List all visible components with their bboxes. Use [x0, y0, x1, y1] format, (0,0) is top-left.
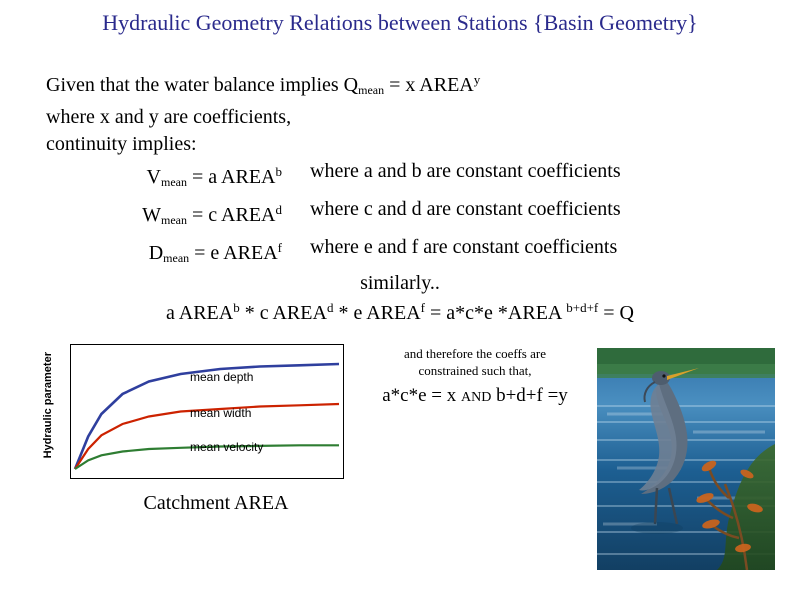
note-result-b: b+d+f =y	[491, 385, 567, 406]
note-line-1: and therefore the coeffs are	[355, 345, 595, 362]
equation-lhs-depth: Dmean = e AREAf	[46, 234, 282, 272]
intro-line-3: continuity implies:	[46, 131, 786, 158]
equation-expr-depth: = e AREA	[189, 243, 278, 265]
hydraulic-geometry-chart: Hydraulic parameter mean depth mean widt…	[48, 340, 348, 520]
note-line-2: constrained such that,	[355, 362, 595, 379]
slide-body: Given that the water balance implies Qme…	[46, 66, 786, 273]
combined-eq-p3: c AREA	[255, 302, 327, 324]
heron-photo-svg	[597, 348, 775, 570]
note-result-and: AND	[461, 390, 491, 405]
intro-line-1: Given that the water balance implies Qme…	[46, 66, 786, 104]
equation-note-depth: where e and f are constant coefficients	[282, 234, 617, 272]
combined-eq-p4: *	[333, 302, 348, 324]
equation-lhs-velocity: Vmean = a AREAb	[46, 158, 282, 196]
equation-var-depth: D	[149, 243, 163, 265]
equation-var-width: W	[142, 204, 161, 226]
chart-x-axis-label: Catchment AREA	[76, 492, 356, 515]
similarly-text: similarly..	[0, 272, 800, 295]
combined-eq-s4: b+d+f	[566, 300, 598, 315]
equation-note-width: where c and d are constant coefficients	[282, 196, 621, 234]
equation-row-velocity: Vmean = a AREAb where a and b are consta…	[46, 158, 786, 196]
equation-expr-velocity: = a AREA	[187, 166, 276, 188]
intro-line-1-sup: y	[474, 72, 481, 87]
coefficient-note: and therefore the coeffs are constrained…	[355, 345, 595, 406]
equation-lhs-width: Wmean = c AREAd	[46, 196, 282, 234]
equation-sub-width: mean	[161, 213, 187, 227]
chart-label-mean-velocity: mean velocity	[190, 440, 263, 454]
intro-line-1-sub: mean	[358, 83, 384, 97]
chart-label-mean-width: mean width	[190, 406, 251, 420]
heron-photo	[597, 348, 775, 570]
equation-note-velocity: where a and b are constant coefficients	[282, 158, 621, 196]
combined-eq-p6: = a*c*e *AREA	[425, 302, 566, 324]
combined-eq-p2: *	[240, 302, 255, 324]
combined-eq-p1: a AREA	[166, 302, 233, 324]
combined-equation: a AREAb * c AREAd * e AREAf = a*c*e *ARE…	[0, 300, 800, 325]
intro-line-2: where x and y are coefficients,	[46, 104, 786, 131]
slide-canvas: Hydraulic Geometry Relations between Sta…	[0, 0, 800, 600]
equation-sub-depth: mean	[163, 252, 189, 266]
chart-label-mean-depth: mean depth	[190, 370, 253, 384]
equation-var-velocity: V	[147, 166, 161, 188]
intro-line-1-text-b: = x AREA	[384, 74, 474, 96]
equation-sub-velocity: mean	[161, 175, 187, 189]
equation-expr-width: = c AREA	[187, 204, 276, 226]
combined-eq-p5: e AREA	[348, 302, 420, 324]
intro-line-1-text-a: Given that the water balance implies Q	[46, 74, 358, 96]
note-result: a*c*e = x AND b+d+f =y	[355, 387, 595, 406]
equation-row-width: Wmean = c AREAd where c and d are consta…	[46, 196, 786, 234]
equation-row-depth: Dmean = e AREAf where e and f are consta…	[46, 234, 786, 272]
combined-eq-p7: = Q	[598, 302, 634, 324]
chart-y-axis-label: Hydraulic parameter	[42, 352, 56, 458]
slide-title: Hydraulic Geometry Relations between Sta…	[0, 10, 800, 36]
note-result-a: a*c*e = x	[382, 385, 461, 406]
